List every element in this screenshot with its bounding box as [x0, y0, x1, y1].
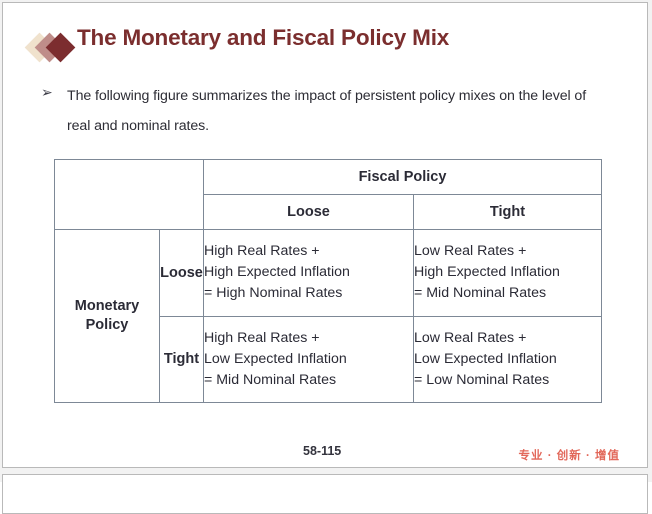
table-corner-cell-2	[160, 160, 204, 230]
page-number: 58-115	[303, 444, 341, 458]
table-row: Monetary Policy Loose High Real Rates + …	[55, 230, 602, 317]
row-header-loose: Loose	[160, 230, 204, 317]
row-group-header: Monetary Policy	[55, 230, 160, 403]
table-corner-cell	[55, 160, 160, 230]
bullet-item: ➢ The following figure summarizes the im…	[41, 81, 611, 141]
brand-tagline: 专业 · 创新 · 增值	[519, 447, 620, 463]
arrow-bullet-icon: ➢	[41, 81, 53, 104]
policy-mix-table: Fiscal Policy Loose Tight Monetary Polic…	[54, 159, 602, 403]
slide-title-row: The Monetary and Fiscal Policy Mix	[3, 25, 647, 71]
slide-panel: The Monetary and Fiscal Policy Mix ➢ The…	[2, 2, 648, 468]
page-title: The Monetary and Fiscal Policy Mix	[77, 25, 449, 51]
diamond-decoration-icon	[29, 30, 77, 64]
cell-tight-tight: Low Real Rates + Low Expected Inflation …	[414, 316, 602, 403]
slide-deck: The Monetary and Fiscal Policy Mix ➢ The…	[0, 0, 652, 482]
cell-loose-tight: Low Real Rates + High Expected Inflation…	[414, 230, 602, 317]
cell-loose-loose: High Real Rates + High Expected Inflatio…	[204, 230, 414, 317]
column-header-tight: Tight	[414, 195, 602, 230]
next-slide-panel[interactable]	[2, 474, 648, 514]
bullet-item-text: The following figure summarizes the impa…	[67, 81, 611, 141]
table-row-header-group: Fiscal Policy	[55, 160, 602, 195]
column-group-header: Fiscal Policy	[204, 160, 602, 195]
row-header-tight: Tight	[160, 316, 204, 403]
cell-tight-loose: High Real Rates + Low Expected Inflation…	[204, 316, 414, 403]
column-header-loose: Loose	[204, 195, 414, 230]
